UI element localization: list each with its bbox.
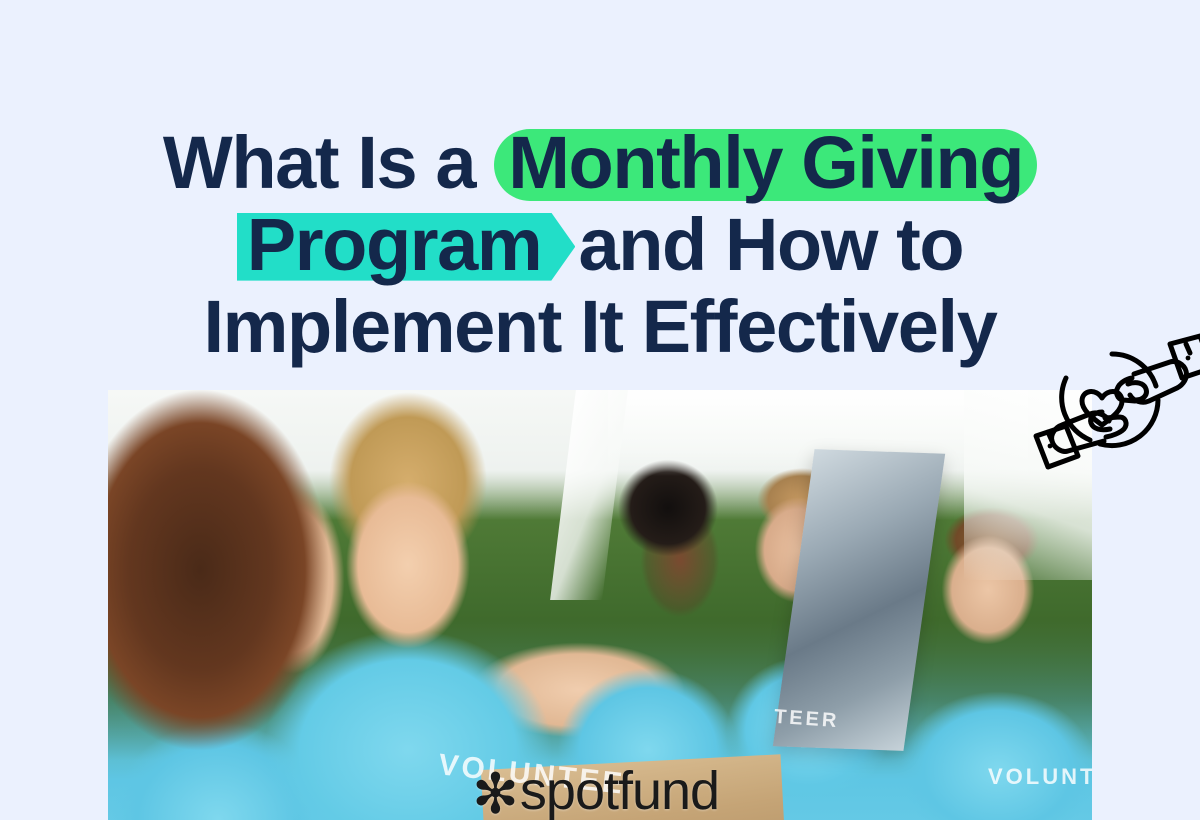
spotfund-star-icon: ✻ [472,766,518,820]
giving-hands-heart-icon-svg [1028,334,1200,464]
headline-line-1: What Is a Monthly Giving [0,122,1200,204]
headline-line3-plain: Implement It Effectively [204,285,997,368]
shirt-label-c: VOLUNT [988,764,1092,790]
headline-highlight-monthly-giving: Monthly Giving [494,122,1037,204]
spotfund-wordmark: spotfund [520,764,719,818]
headline-highlight-program: Program [237,204,554,286]
upper-cuff-dot [1186,356,1191,361]
giving-hands-heart-icon [1028,334,1200,464]
shirt-label-b: TEER [773,706,840,734]
upper-cuff-stripe [1186,344,1190,353]
headline-line-3: Implement It Effectively [0,286,1200,368]
spotfund-watermark: ✻ spotfund [472,762,719,818]
headline-line1-plain: What Is a [163,121,494,204]
headline-line2-plain: and How to [559,203,963,286]
lower-cuff-dot [1048,444,1053,449]
hero-photo: VOLUNTEE TEER VOLUNT [108,390,1092,820]
headline-line-2: Program and How to [0,204,1200,286]
page-title: What Is a Monthly Giving Program and How… [0,122,1200,368]
blog-header-banner: What Is a Monthly Giving Program and How… [0,0,1200,820]
